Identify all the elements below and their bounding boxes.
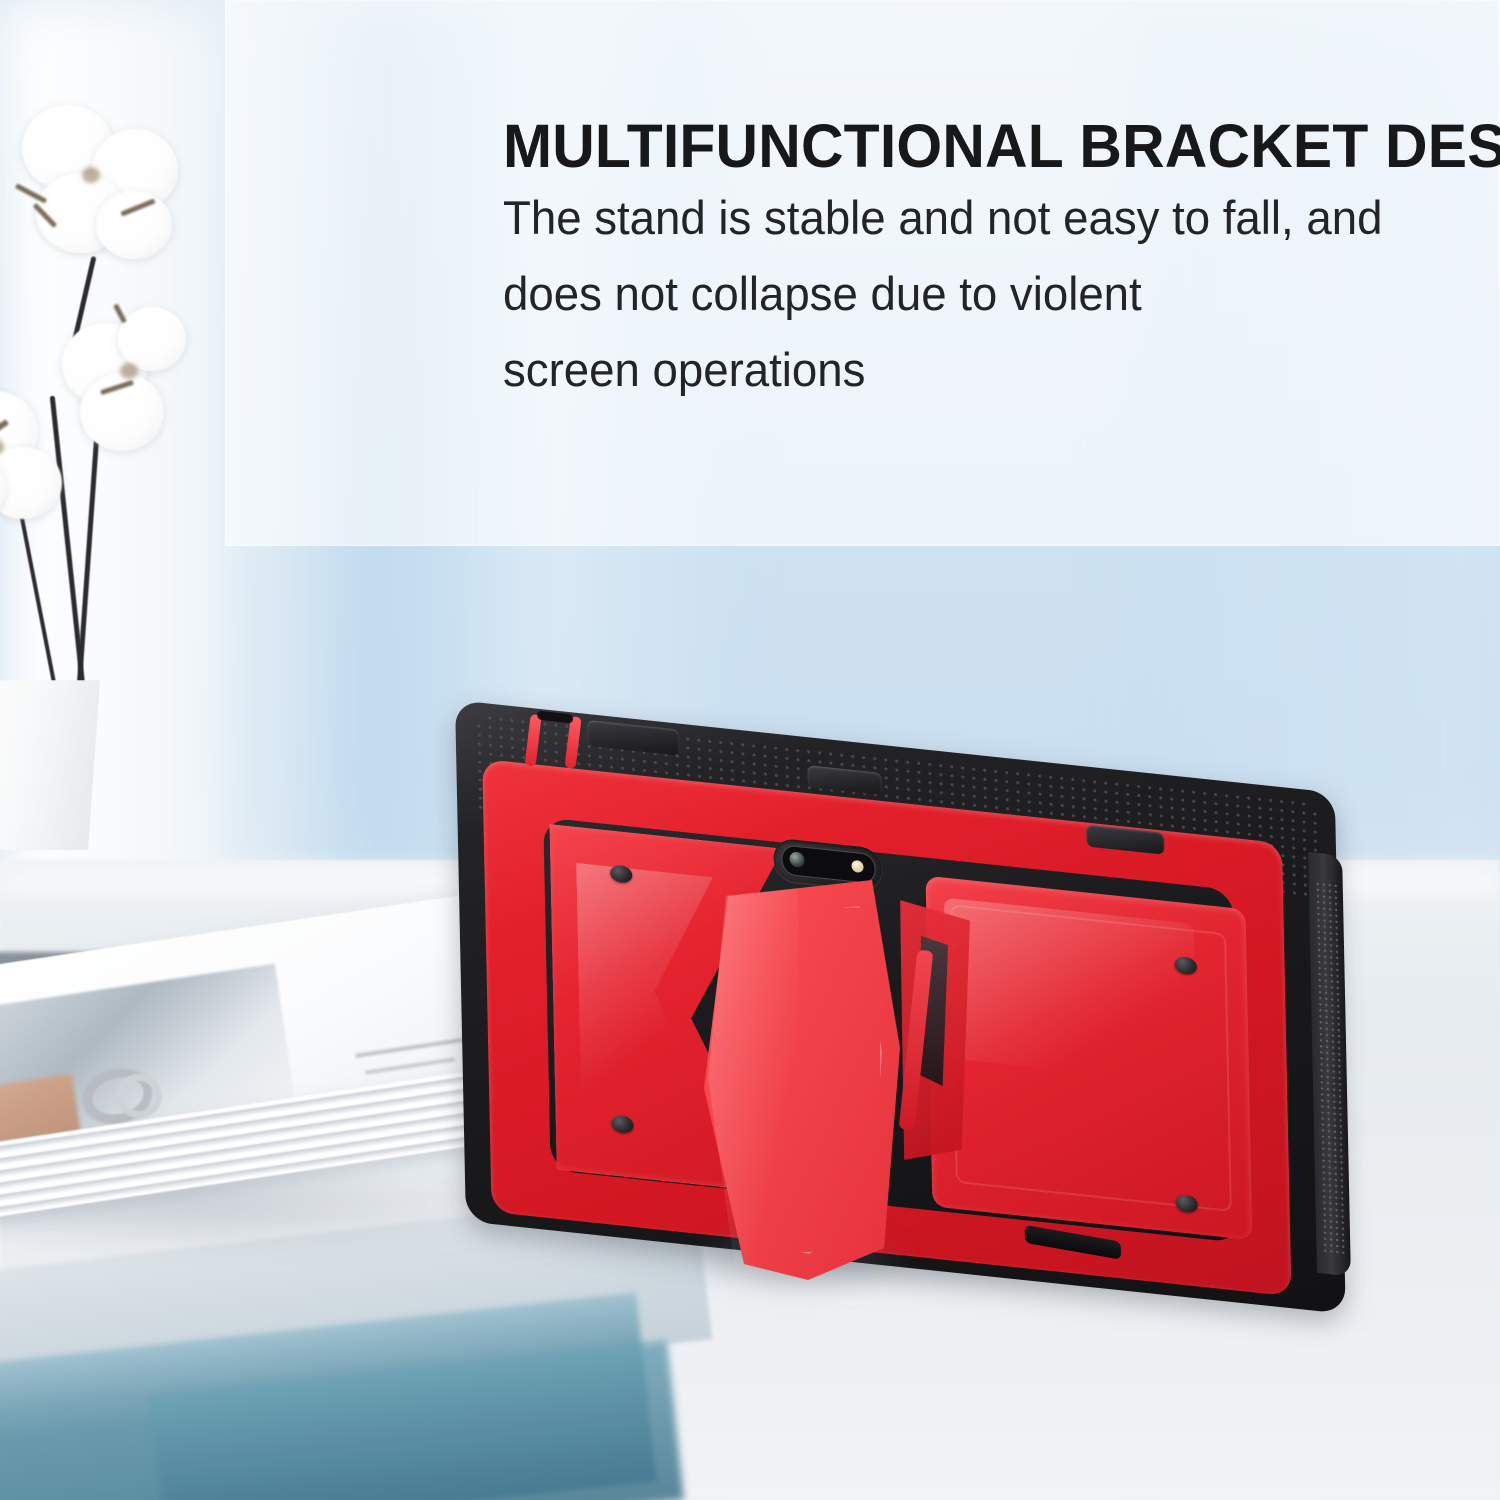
text-overlay-panel: MULTIFUNCTIONAL BRACKET DESIGN The stand… — [225, 0, 1500, 546]
kickstand-panel-highlight — [708, 888, 798, 1268]
kickstand-assembly — [690, 880, 940, 1290]
page-title: MULTIFUNCTIONAL BRACKET DESIGN — [503, 112, 1500, 180]
subtitle-line-2: does not collapse due to violent — [503, 256, 1500, 332]
subtitle-line-3: screen operations — [503, 332, 1500, 408]
tablet-right-plate-highlight — [944, 898, 1197, 1085]
white-vase — [0, 680, 100, 850]
product-image-canvas: MULTIFUNCTIONAL BRACKET DESIGN The stand… — [0, 0, 1500, 1500]
subtitle-line-1: The stand is stable and not easy to fall… — [503, 180, 1500, 256]
text-block: MULTIFUNCTIONAL BRACKET DESIGN The stand… — [503, 112, 1500, 408]
cotton-plant — [0, 95, 230, 715]
